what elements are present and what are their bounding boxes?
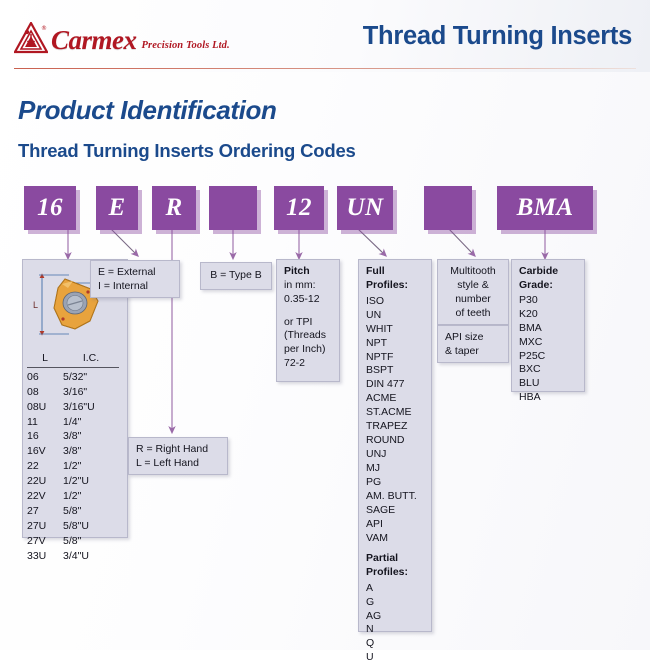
brand-name: Carmex (51, 27, 137, 54)
full-profile-item: AM. BUTT. (366, 490, 424, 504)
code-box-hand[interactable]: R (152, 186, 196, 230)
profiles-box: Full Profiles: ISOUNWHITNPTNPTFBSPTDIN 4… (358, 259, 432, 632)
grade-item: HBA (519, 391, 577, 405)
lic-table-row: 08U3/16"U (27, 400, 123, 415)
lic-cell-ic: 5/8"U (63, 519, 119, 534)
partial-profile-item: A (366, 582, 424, 596)
grade-item: BXC (519, 363, 577, 377)
code-box-grade[interactable]: BMA (497, 186, 593, 230)
full-profile-item: ROUND (366, 434, 424, 448)
partial-profile-item: N (366, 623, 424, 637)
brand-logo: ® Carmex Precision Tools Ltd. (14, 22, 230, 54)
full-profile-item: VAM (366, 532, 424, 546)
api-line-2: & taper (445, 345, 501, 359)
lic-table-row: 22U1/2"U (27, 474, 123, 489)
lic-cell-ic: 3/4"U (63, 549, 119, 564)
multitooth-line-4: of teeth (445, 307, 501, 321)
size-detail-box: L I.C. L I.C. 065/32"083/16"08U3/16"U111… (22, 259, 128, 538)
page-root: ® Carmex Precision Tools Ltd. Thread Tur… (0, 0, 650, 650)
full-profile-item: UNJ (366, 448, 424, 462)
partial-profile-item: U (366, 651, 424, 665)
code-box-label: UN (347, 194, 384, 222)
full-profile-item: PG (366, 476, 424, 490)
full-profiles-list: ISOUNWHITNPTNPTFBSPTDIN 477ACMEST.ACMETR… (366, 295, 424, 546)
full-profile-item: ST.ACME (366, 406, 424, 420)
lic-table-row: 22V1/2" (27, 489, 123, 504)
lic-cell-l: 27U (27, 519, 63, 534)
pitch-tpi-note1: (Threads (284, 329, 332, 343)
hand-box: R = Right Hand L = Left Hand (128, 437, 228, 475)
partial-profiles-title-1: Partial (366, 552, 398, 564)
partial-profiles-title-2: Profiles: (366, 566, 408, 578)
lic-table-row: 27U5/8"U (27, 519, 123, 534)
pitch-box: Pitch in mm: 0.35-12 or TPI (Threads per… (276, 259, 340, 382)
brand-tagline: Precision Tools Ltd. (142, 40, 230, 54)
code-box-size[interactable]: 16 (24, 186, 76, 230)
pitch-mm-label: in mm: (284, 279, 332, 293)
lic-table-row: 111/4" (27, 415, 123, 430)
full-profiles-title-1: Full (366, 265, 385, 277)
partial-profiles-list: AGAGNQU (366, 582, 424, 666)
grade-title-1: Carbide (519, 265, 558, 277)
lic-cell-ic: 5/8" (63, 504, 119, 519)
page-title: Thread Turning Inserts (363, 22, 632, 51)
full-profile-item: ISO (366, 295, 424, 309)
full-profile-item: DIN 477 (366, 378, 424, 392)
api-line-1: API size (445, 331, 501, 345)
lic-header-l: L (27, 352, 63, 368)
external-line: E = External (98, 266, 172, 280)
lic-cell-l: 06 (27, 370, 63, 385)
lic-cell-l: 27V (27, 534, 63, 549)
type-box: B = Type B (200, 262, 272, 290)
partial-profile-item: AG (366, 610, 424, 624)
lic-cell-l: 33U (27, 549, 63, 564)
carbide-grade-box: Carbide Grade: P30K20BMAMXCP25CBXCBLUHBA (511, 259, 585, 392)
section-title: Product Identification (18, 95, 276, 126)
external-internal-box: E = External I = Internal (90, 260, 180, 298)
code-box-label: E (108, 194, 125, 222)
api-box: API size & taper (437, 325, 509, 363)
full-profile-item: ACME (366, 392, 424, 406)
triangle-emblem-icon: ® (14, 22, 48, 54)
multitooth-line-2: style & (445, 279, 501, 293)
code-box-type[interactable] (209, 186, 257, 230)
full-profile-item: UN (366, 309, 424, 323)
code-box-pitch[interactable]: 12 (274, 186, 324, 230)
grade-item: BMA (519, 322, 577, 336)
lic-cell-ic: 5/32" (63, 370, 119, 385)
pitch-tpi-range: 72-2 (284, 357, 332, 371)
lic-table-row: 221/2" (27, 459, 123, 474)
lic-cell-ic: 1/2" (63, 489, 119, 504)
grade-item: K20 (519, 308, 577, 322)
full-profile-item: NPTF (366, 351, 424, 365)
lic-cell-l: 27 (27, 504, 63, 519)
lic-table-header: L I.C. (27, 352, 123, 368)
lic-cell-ic: 3/8" (63, 444, 119, 459)
grade-list: P30K20BMAMXCP25CBXCBLUHBA (519, 294, 577, 406)
multitooth-line-3: number (445, 293, 501, 307)
lic-table-row: 163/8" (27, 429, 123, 444)
page-header: ® Carmex Precision Tools Ltd. Thread Tur… (0, 0, 650, 72)
full-profile-item: MJ (366, 462, 424, 476)
grade-item: P25C (519, 350, 577, 364)
lic-table-row: 33U3/4"U (27, 549, 123, 564)
multitooth-line-1: Multitooth (445, 265, 501, 279)
lic-cell-ic: 5/8" (63, 534, 119, 549)
header-divider (14, 68, 636, 69)
grade-item: P30 (519, 294, 577, 308)
code-box-profile[interactable]: UN (337, 186, 393, 230)
right-hand-line: R = Right Hand (136, 443, 220, 457)
lic-cell-l: 16V (27, 444, 63, 459)
lic-header-ic: I.C. (63, 352, 119, 368)
full-profile-item: API (366, 518, 424, 532)
full-profiles-title-2: Profiles: (366, 279, 408, 291)
lic-table-row: 083/16" (27, 385, 123, 400)
pitch-title: Pitch (284, 265, 310, 277)
section-subtitle: Thread Turning Inserts Ordering Codes (18, 140, 356, 162)
lic-table-row: 275/8" (27, 504, 123, 519)
pitch-tpi-note2: per Inch) (284, 343, 332, 357)
lic-cell-l: 22V (27, 489, 63, 504)
lic-table-row: 065/32" (27, 370, 123, 385)
lic-cell-l: 22 (27, 459, 63, 474)
lic-cell-ic: 3/16" (63, 385, 119, 400)
lic-cell-l: 16 (27, 429, 63, 444)
lic-table-body: 065/32"083/16"08U3/16"U111/4"163/8"16V3/… (27, 370, 123, 564)
multitooth-box: Multitooth style & number of teeth (437, 259, 509, 325)
code-box-label: R (165, 194, 182, 222)
partial-profile-item: G (366, 596, 424, 610)
pitch-mm-range: 0.35-12 (284, 293, 332, 307)
lic-cell-ic: 3/8" (63, 429, 119, 444)
type-line: B = Type B (210, 269, 261, 283)
lic-cell-ic: 3/16"U (63, 400, 119, 415)
lic-table-row: 27V5/8" (27, 534, 123, 549)
lic-cell-l: 22U (27, 474, 63, 489)
code-box-label: 12 (286, 194, 312, 222)
code-box-label: BMA (517, 194, 574, 222)
lic-table-row: 16V3/8" (27, 444, 123, 459)
full-profile-item: SAGE (366, 504, 424, 518)
code-box-external-internal[interactable]: E (96, 186, 138, 230)
internal-line: I = Internal (98, 280, 172, 294)
full-profile-item: WHIT (366, 323, 424, 337)
grade-title-2: Grade: (519, 279, 553, 291)
lic-cell-ic: 1/2"U (63, 474, 119, 489)
grade-item: MXC (519, 336, 577, 350)
lic-cell-l: 08U (27, 400, 63, 415)
left-hand-line: L = Left Hand (136, 457, 220, 471)
svg-text:L: L (33, 300, 38, 310)
full-profile-item: BSPT (366, 364, 424, 378)
grade-item: BLU (519, 377, 577, 391)
svg-text:®: ® (41, 25, 47, 32)
lic-cell-ic: 1/2" (63, 459, 119, 474)
full-profile-item: TRAPEZ (366, 420, 424, 434)
pitch-tpi-label: or TPI (284, 316, 332, 330)
code-box-label: 16 (37, 194, 63, 222)
partial-profile-item: Q (366, 637, 424, 651)
lic-cell-ic: 1/4" (63, 415, 119, 430)
full-profile-item: NPT (366, 337, 424, 351)
code-box-multitooth[interactable] (424, 186, 472, 230)
lic-cell-l: 08 (27, 385, 63, 400)
lic-cell-l: 11 (27, 415, 63, 430)
